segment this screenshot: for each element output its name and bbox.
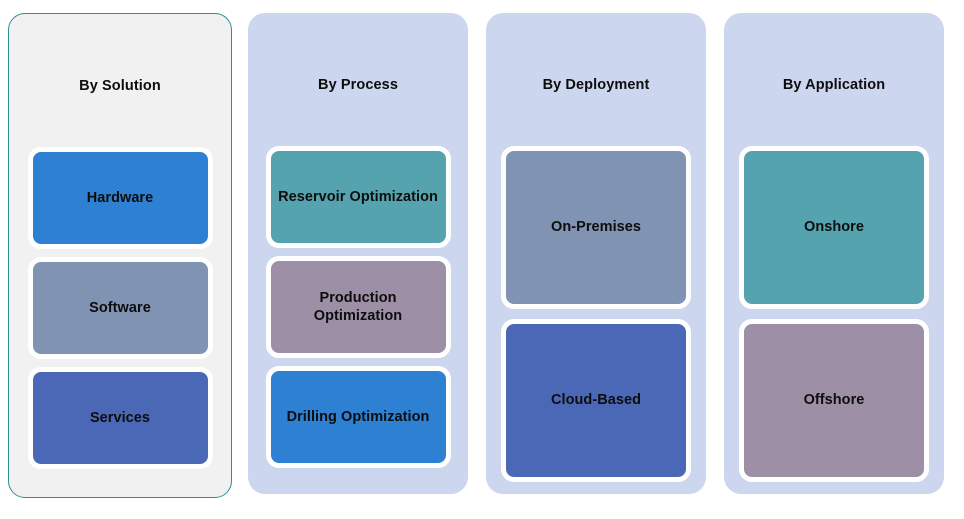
column-items-by-process: Reservoir Optimization Production Optimi… — [248, 146, 468, 476]
category-column-by-process[interactable]: By Process Reservoir Optimization Produc… — [248, 13, 468, 494]
node-label-cloud-based: Cloud-Based — [545, 391, 647, 409]
node-label-offshore: Offshore — [798, 391, 871, 409]
node-label-software: Software — [83, 299, 157, 317]
column-items-by-solution: Hardware Software Services — [9, 147, 231, 477]
node-label-hardware: Hardware — [81, 189, 160, 207]
node-label-drilling-optimization: Drilling Optimization — [281, 408, 436, 426]
node-software[interactable]: Software — [28, 257, 213, 359]
column-title-by-deployment: By Deployment — [486, 77, 706, 93]
node-label-on-premises: On-Premises — [545, 218, 647, 236]
node-offshore[interactable]: Offshore — [739, 319, 929, 482]
column-items-by-application: Onshore Offshore — [724, 146, 944, 492]
segmentation-diagram: By Solution Hardware Software Services B… — [0, 0, 964, 519]
node-label-onshore: Onshore — [798, 218, 870, 236]
column-title-by-process: By Process — [248, 77, 468, 93]
node-production-optimization[interactable]: Production Optimization — [266, 256, 451, 358]
category-column-by-solution[interactable]: By Solution Hardware Software Services — [8, 13, 232, 498]
node-drilling-optimization[interactable]: Drilling Optimization — [266, 366, 451, 468]
category-column-by-deployment[interactable]: By Deployment On-Premises Cloud-Based — [486, 13, 706, 494]
node-reservoir-optimization[interactable]: Reservoir Optimization — [266, 146, 451, 248]
column-items-by-deployment: On-Premises Cloud-Based — [486, 146, 706, 492]
column-title-by-solution: By Solution — [9, 78, 231, 94]
column-title-by-application: By Application — [724, 77, 944, 93]
node-label-services: Services — [84, 409, 156, 427]
node-label-production-optimization: Production Optimization — [271, 289, 446, 325]
category-column-by-application[interactable]: By Application Onshore Offshore — [724, 13, 944, 494]
node-cloud-based[interactable]: Cloud-Based — [501, 319, 691, 482]
node-on-premises[interactable]: On-Premises — [501, 146, 691, 309]
node-label-reservoir-optimization: Reservoir Optimization — [272, 188, 444, 206]
node-services[interactable]: Services — [28, 367, 213, 469]
node-onshore[interactable]: Onshore — [739, 146, 929, 309]
node-hardware[interactable]: Hardware — [28, 147, 213, 249]
